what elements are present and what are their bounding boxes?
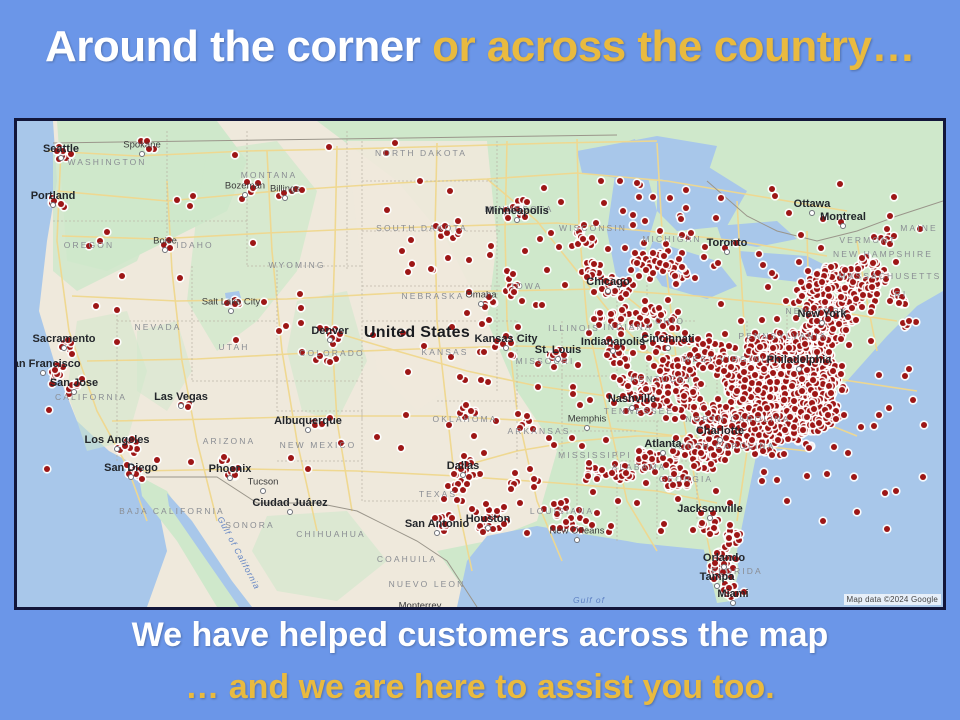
map-city-dot <box>809 210 815 216</box>
map-city-dot <box>114 446 120 452</box>
page-title: Around the corner or across the country… <box>0 22 960 72</box>
map-city-dot <box>610 348 616 354</box>
map-city-dot <box>139 151 145 157</box>
map-city-dot <box>574 537 580 543</box>
map-city-dot <box>840 223 846 229</box>
map-city-dot <box>282 195 288 201</box>
map-city-dot <box>58 155 64 161</box>
map-city-dot <box>717 437 723 443</box>
map-city-dot <box>434 530 440 536</box>
map-city-dot <box>503 345 509 351</box>
map-city-dot <box>128 474 134 480</box>
map-city-dot <box>724 249 730 255</box>
headline-gold-part: or across the country… <box>432 22 915 71</box>
map-city-dot <box>287 509 293 515</box>
map-city-dot <box>660 450 666 456</box>
map-city-dot <box>460 472 466 478</box>
map-city-dot <box>227 475 233 481</box>
slide: Around the corner or across the country… <box>0 0 960 720</box>
map-city-dot <box>584 425 590 431</box>
map-city-dot <box>50 202 56 208</box>
map-city-dot <box>485 525 491 531</box>
map-city-dot <box>478 301 484 307</box>
map-city-dot <box>629 405 635 411</box>
map-city-dot <box>819 320 825 326</box>
map-city-dot <box>714 583 720 589</box>
caption-line-2: … and we are here to assist you too. <box>0 668 960 707</box>
map-city-dot <box>242 192 248 198</box>
map-inner: WASHINGTONOREGONIDAHOMONTANAWYOMINGNEVAD… <box>17 121 943 607</box>
customer-location-map[interactable]: WASHINGTONOREGONIDAHOMONTANAWYOMINGNEVAD… <box>14 118 946 610</box>
headline-white-part: Around the corner <box>45 22 432 71</box>
map-city-dot <box>514 217 520 223</box>
map-city-dot <box>665 345 671 351</box>
map-attribution: Map data ©2024 Google <box>844 594 942 605</box>
map-city-dot <box>730 600 736 606</box>
map-city-dot <box>327 337 333 343</box>
map-city-dot <box>260 488 266 494</box>
map-city-dot <box>71 389 77 395</box>
caption-line-1: We have helped customers across the map <box>0 616 960 655</box>
map-city-dot <box>707 515 713 521</box>
map-city-dot <box>178 403 184 409</box>
map-city-dot <box>305 427 311 433</box>
map-city-dot <box>555 356 561 362</box>
map-city-dot <box>61 345 67 351</box>
map-city-dot <box>721 564 727 570</box>
map-city-dot <box>228 308 234 314</box>
map-city-dot <box>796 366 802 372</box>
map-city-dot <box>605 288 611 294</box>
map-city-dot <box>162 247 168 253</box>
map-city-dot <box>40 370 46 376</box>
map-basemap <box>17 121 943 607</box>
